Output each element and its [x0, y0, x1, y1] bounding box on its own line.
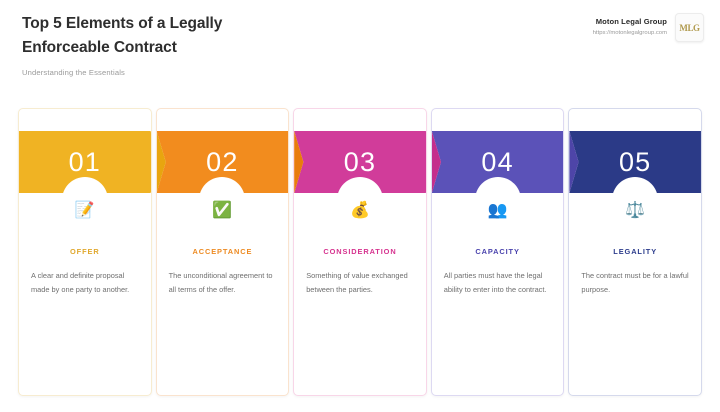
step-number: 01 [69, 147, 101, 178]
check-mark-button-icon: ✅ [157, 203, 289, 219]
step-label: CAPACITY [432, 247, 564, 256]
busts-in-silhouette-icon: 👥 [432, 203, 564, 219]
logo-monogram: MLG [679, 23, 699, 33]
step-number: 02 [206, 147, 238, 178]
step-number: 03 [344, 147, 376, 178]
brand-text: Moton Legal Group https://motonlegalgrou… [593, 17, 667, 37]
step-description: The unconditional agreement to all terms… [169, 269, 277, 296]
memo-icon: 📝 [19, 203, 151, 219]
brand-name: Moton Legal Group [593, 17, 667, 27]
step-description: The contract must be for a lawful purpos… [581, 269, 689, 296]
step-label: ACCEPTANCE [157, 247, 289, 256]
brand-block: Moton Legal Group https://motonlegalgrou… [593, 13, 704, 42]
step-description: All parties must have the legal ability … [444, 269, 552, 296]
step-card[interactable]: 03💰CONSIDERATIONSomething of value excha… [293, 108, 427, 396]
page-title-line-2: Enforceable Contract [22, 39, 177, 56]
step-label: CONSIDERATION [294, 247, 426, 256]
page-title: Top 5 Elements of a Legally Enforceable … [22, 12, 442, 60]
step-number: 04 [481, 147, 513, 178]
page-subtitle: Understanding the Essentials [22, 68, 442, 77]
step-label: OFFER [19, 247, 151, 256]
title-block: Top 5 Elements of a Legally Enforceable … [22, 12, 442, 77]
logo-badge-icon: MLG [675, 13, 704, 42]
step-number: 05 [619, 147, 651, 178]
step-label: LEGALITY [569, 247, 701, 256]
step-description: A clear and definite proposal made by on… [31, 269, 139, 296]
step-card[interactable]: 04👥CAPACITYAll parties must have the leg… [431, 108, 565, 396]
step-description: Something of value exchanged between the… [306, 269, 414, 296]
step-card[interactable]: 02✅ACCEPTANCEThe unconditional agreement… [156, 108, 290, 396]
page-title-line-1: Top 5 Elements of a Legally [22, 15, 222, 32]
steps-row: 01📝OFFERA clear and definite proposal ma… [18, 108, 702, 396]
balance-scale-icon: ⚖️ [569, 203, 701, 219]
header: Top 5 Elements of a Legally Enforceable … [0, 0, 720, 100]
money-bag-icon: 💰 [294, 203, 426, 219]
step-card[interactable]: 05⚖️LEGALITYThe contract must be for a l… [568, 108, 702, 396]
step-card[interactable]: 01📝OFFERA clear and definite proposal ma… [18, 108, 152, 396]
brand-url[interactable]: https://motonlegalgroup.com [593, 30, 667, 38]
